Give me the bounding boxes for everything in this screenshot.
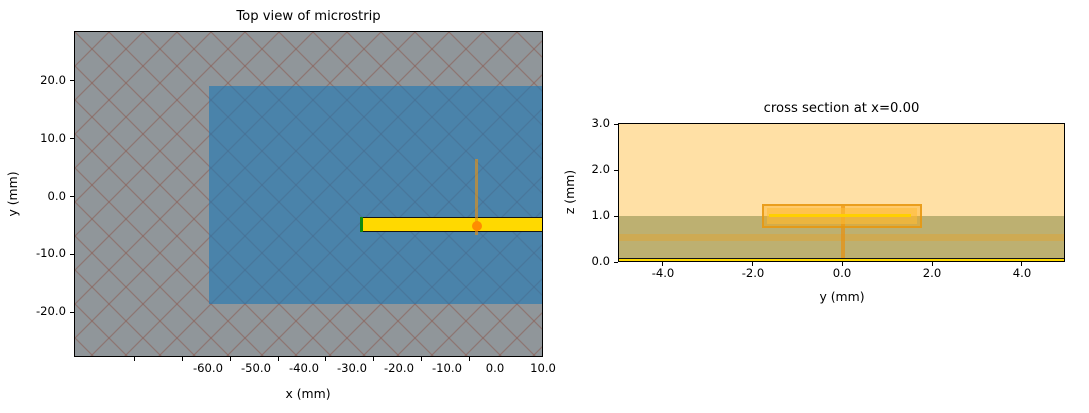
tick-mark xyxy=(70,254,74,255)
ytick-label: 3.0 xyxy=(574,118,610,130)
ytick-label: -10.0 xyxy=(18,249,66,261)
tick-mark xyxy=(614,262,618,263)
crosssection-title: cross section at x=0.00 xyxy=(618,102,1065,115)
xtick-label: 4.0 xyxy=(1013,268,1031,280)
topview-axes xyxy=(74,31,543,357)
xtick-label: 10.0 xyxy=(530,363,556,375)
xtick-label: 0.0 xyxy=(486,363,504,375)
topview-title: Top view of microstrip xyxy=(74,10,543,23)
xtick-label: 0.0 xyxy=(833,268,851,280)
crosssection-trace-metal xyxy=(769,214,911,217)
xtick-label: -2.0 xyxy=(742,268,765,280)
ytick-label: 2.0 xyxy=(574,164,610,176)
xtick-label: -50.0 xyxy=(241,363,271,375)
xtick-label: -60.0 xyxy=(193,363,223,375)
ytick-label: 10.0 xyxy=(18,133,66,145)
topview-yaxis-label: y (mm) xyxy=(7,171,19,216)
tick-mark xyxy=(70,196,74,197)
topview-xaxis-label: x (mm) xyxy=(285,388,330,400)
tick-mark xyxy=(70,138,74,139)
xtick-label: -10.0 xyxy=(432,363,462,375)
tick-mark xyxy=(278,357,279,361)
crosssection-axes xyxy=(618,123,1065,262)
ytick-label: 0.0 xyxy=(18,191,66,203)
tick-mark xyxy=(134,357,135,361)
tick-mark xyxy=(70,80,74,81)
crosssection-xaxis-label: y (mm) xyxy=(819,291,864,303)
tick-mark xyxy=(373,357,374,361)
ytick-label: 20.0 xyxy=(18,75,66,87)
topview-trace-rect xyxy=(360,217,543,232)
topview-probe-point xyxy=(472,221,482,231)
tick-mark xyxy=(614,124,618,125)
ytick-label: 0.0 xyxy=(574,257,610,269)
xtick-label: -30.0 xyxy=(337,363,367,375)
tick-mark xyxy=(182,357,183,361)
crosssection-yaxis-label: z (mm) xyxy=(564,170,576,214)
xtick-label: -4.0 xyxy=(652,268,675,280)
xtick-label: -20.0 xyxy=(384,363,414,375)
tick-mark xyxy=(469,357,470,361)
topview-substrate-region xyxy=(209,86,543,304)
tick-mark xyxy=(230,357,231,361)
ytick-label: 1.0 xyxy=(574,210,610,222)
matplotlib-figure: Top view of microstrip xyxy=(0,0,1089,413)
xtick-label: -40.0 xyxy=(289,363,319,375)
tick-mark xyxy=(325,357,326,361)
ytick-label: -20.0 xyxy=(18,307,66,319)
topview-port-edge xyxy=(360,217,363,232)
xtick-label: 2.0 xyxy=(923,268,941,280)
tick-mark xyxy=(70,312,74,313)
tick-mark xyxy=(421,357,422,361)
tick-mark xyxy=(614,216,618,217)
tick-mark xyxy=(614,170,618,171)
